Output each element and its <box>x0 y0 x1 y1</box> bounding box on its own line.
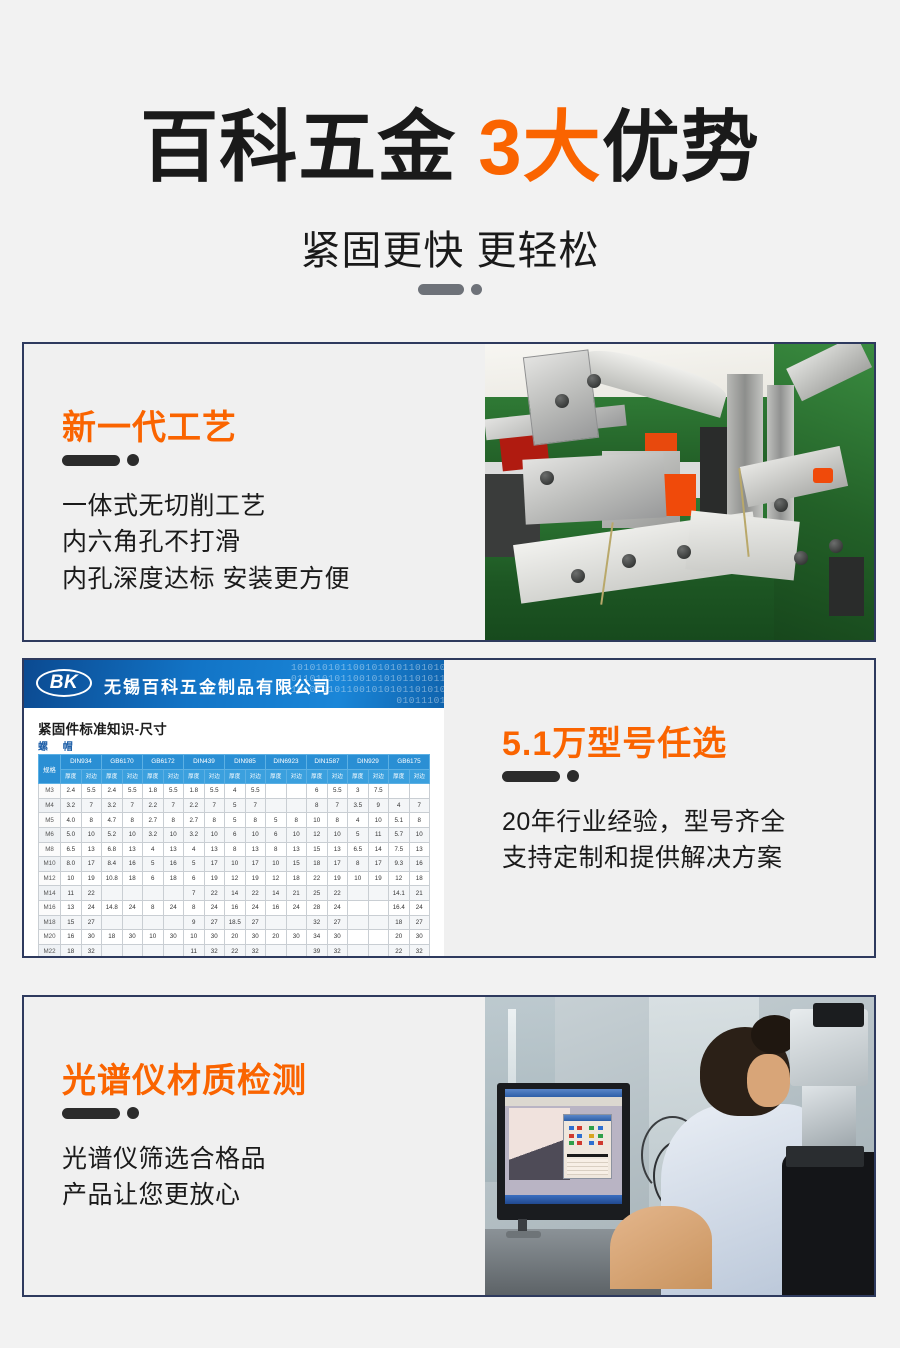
spec-cell: 2.2 <box>184 798 205 813</box>
spec-cell: 3.2 <box>184 827 205 842</box>
spec-cell: 6.8 <box>102 842 123 857</box>
spec-cell: 13 <box>81 842 102 857</box>
spec-cell: 24 <box>122 900 143 915</box>
spec-standard: DIN985 <box>225 755 266 770</box>
spec-cell: 5.5 <box>122 784 143 799</box>
spec-cell <box>286 784 307 799</box>
spec-cell <box>348 944 369 956</box>
spec-cell: 17 <box>368 857 389 872</box>
spec-subheader: 厚度 <box>266 769 287 784</box>
spectrometer-lab-photo <box>485 997 876 1295</box>
spec-cell: 4 <box>389 798 410 813</box>
spec-cell: 8.0 <box>61 857 82 872</box>
spec-subheader: 对边 <box>409 769 430 784</box>
spec-cell: 7 <box>245 798 266 813</box>
feature-card-1: 新一代工艺 一体式无切削工艺 内六角孔不打滑 内孔深度达标 安装更方便 <box>22 342 876 642</box>
spec-cell <box>143 944 164 956</box>
spec-cell <box>102 886 123 901</box>
spec-cell: 19 <box>368 871 389 886</box>
monitor-screen <box>505 1089 622 1204</box>
spec-subheader: 厚度 <box>61 769 82 784</box>
spec-cell: 24 <box>204 900 225 915</box>
spec-standard: DIN439 <box>184 755 225 770</box>
cold-forming-machine-photo <box>485 344 876 640</box>
feature-card-3-text: 光谱仪材质检测 光谱仪筛选合格品 产品让您更放心 <box>62 997 482 1295</box>
spec-table-row: M2218321132223239322232 <box>39 944 430 956</box>
spec-subheader: 对边 <box>245 769 266 784</box>
title-part-accent: 3大 <box>478 103 601 191</box>
spec-cell: 10 <box>307 813 328 828</box>
feature-card-1-text: 新一代工艺 一体式无切削工艺 内六角孔不打滑 内孔深度达标 安装更方便 <box>62 344 482 640</box>
spec-cell: 17 <box>81 857 102 872</box>
spec-cell: 4 <box>348 813 369 828</box>
spec-row-size: M16 <box>39 900 61 915</box>
spec-cell: 13 <box>245 842 266 857</box>
bk-logo: BK <box>36 669 92 697</box>
spec-standard: GB6175 <box>389 755 430 770</box>
spec-cell: 10 <box>122 827 143 842</box>
spec-cell: 30 <box>204 930 225 945</box>
spec-cell: 5.0 <box>61 827 82 842</box>
spec-cell <box>348 930 369 945</box>
spec-cell: 27 <box>327 915 348 930</box>
monitor <box>497 1083 630 1220</box>
spec-table-row: M65.0105.2103.2103.21061061012105115.710 <box>39 827 430 842</box>
divider-bar <box>502 771 560 782</box>
spec-table-row: M32.45.52.45.51.85.51.85.545.565.537.5 <box>39 784 430 799</box>
spec-cell: 10 <box>348 871 369 886</box>
spec-subheader: 对边 <box>286 769 307 784</box>
spec-row-size: M8 <box>39 842 61 857</box>
spec-cell: 16 <box>61 930 82 945</box>
feature-card-3-body: 光谱仪筛选合格品 产品让您更放心 <box>62 1141 266 1214</box>
spec-cell: 28 <box>307 900 328 915</box>
spec-cell: 32 <box>327 944 348 956</box>
divider-dot <box>127 1107 139 1119</box>
spec-cell: 12 <box>266 871 287 886</box>
spec-cell: 24 <box>327 900 348 915</box>
spec-cell <box>266 944 287 956</box>
spec-subheader: 厚度 <box>102 769 123 784</box>
spec-cell: 10 <box>143 930 164 945</box>
spec-cell: 3 <box>348 784 369 799</box>
spec-cell: 10 <box>184 930 205 945</box>
spec-cell: 30 <box>245 930 266 945</box>
spec-cell: 30 <box>122 930 143 945</box>
spec-cell: 3.2 <box>61 798 82 813</box>
spec-cell: 10 <box>204 827 225 842</box>
spec-cell: 22 <box>225 944 246 956</box>
spec-cell <box>368 900 389 915</box>
spec-table-head: 规格 DIN934 GB6170 GB6172 DIN439 DIN985 DI… <box>39 755 430 784</box>
spec-table-row: M54.084.782.782.7858581084105.18 <box>39 813 430 828</box>
spec-cell: 22 <box>389 944 410 956</box>
spec-subheader: 对边 <box>163 769 184 784</box>
spec-cell: 30 <box>409 930 430 945</box>
spec-cell <box>143 886 164 901</box>
spec-cell <box>266 915 287 930</box>
spec-cell: 7 <box>204 798 225 813</box>
spec-cell: 6 <box>225 827 246 842</box>
spec-subheader: 对边 <box>327 769 348 784</box>
spec-cell: 1.8 <box>184 784 205 799</box>
spec-cell: 7 <box>122 798 143 813</box>
spec-cell: 16 <box>163 857 184 872</box>
spec-cell <box>368 886 389 901</box>
spec-cell: 18 <box>409 871 430 886</box>
spec-cell: 5.5 <box>327 784 348 799</box>
spec-cell: 8 <box>204 813 225 828</box>
feature-card-2: 1010101011001010101101010 01101010110010… <box>22 658 876 958</box>
spec-cell: 7 <box>81 798 102 813</box>
spec-cell <box>102 915 123 930</box>
spec-cell: 18 <box>102 930 123 945</box>
spec-cell <box>122 915 143 930</box>
spec-cell: 8 <box>143 900 164 915</box>
spec-cell: 4.7 <box>102 813 123 828</box>
spec-cell: 27 <box>204 915 225 930</box>
spec-cell: 8 <box>81 813 102 828</box>
feature-card-3-divider <box>62 1107 139 1119</box>
spec-cell: 7 <box>184 886 205 901</box>
spec-subheader: 厚度 <box>389 769 410 784</box>
spec-cell: 18.5 <box>225 915 246 930</box>
spec-cell: 2.4 <box>102 784 123 799</box>
spec-cell: 6.5 <box>348 842 369 857</box>
spec-cell: 22 <box>307 871 328 886</box>
spec-cell <box>266 798 287 813</box>
spec-cell <box>266 784 287 799</box>
spec-cell: 6 <box>307 784 328 799</box>
spec-subheader: 厚度 <box>348 769 369 784</box>
spec-cell: 5 <box>184 857 205 872</box>
spec-cell: 10 <box>163 827 184 842</box>
spec-cell: 30 <box>327 930 348 945</box>
spec-cell: 13 <box>61 900 82 915</box>
spec-cell: 32 <box>245 944 266 956</box>
spec-cell: 18 <box>307 857 328 872</box>
spec-cell: 14.8 <box>102 900 123 915</box>
title-part-brand: 百科五金 <box>140 103 456 191</box>
feature-card-3: 光谱仪材质检测 光谱仪筛选合格品 产品让您更放心 <box>22 995 876 1297</box>
feature-card-2-divider <box>502 770 579 782</box>
spec-subheader: 厚度 <box>143 769 164 784</box>
page-header: 百科五金3大优势 紧固更快 更轻松 <box>0 0 900 330</box>
spec-cell: 6 <box>266 827 287 842</box>
spec-cell: 1.8 <box>143 784 164 799</box>
spec-cell: 8 <box>122 813 143 828</box>
spec-cell: 4 <box>184 842 205 857</box>
spec-subheader: 厚度 <box>225 769 246 784</box>
promo-page: 百科五金3大优势 紧固更快 更轻松 新一代工艺 一体式无切削工艺 内六角孔不打滑… <box>0 0 900 1348</box>
spec-cell <box>348 915 369 930</box>
spec-cell: 8 <box>409 813 430 828</box>
spec-cell: 2.7 <box>184 813 205 828</box>
page-title: 百科五金3大优势 <box>0 108 900 186</box>
spec-cell: 19 <box>245 871 266 886</box>
spec-cell: 18 <box>389 915 410 930</box>
spec-cell: 34 <box>307 930 328 945</box>
spec-subheader: 厚度 <box>307 769 328 784</box>
spec-cell: 7 <box>409 798 430 813</box>
spec-subheader: 对边 <box>122 769 143 784</box>
spec-cell: 7.5 <box>389 842 410 857</box>
spec-cell: 4 <box>225 784 246 799</box>
spec-cell: 18 <box>122 871 143 886</box>
spec-cell: 15 <box>307 842 328 857</box>
spec-cell: 3.5 <box>348 798 369 813</box>
spec-standard: GB6172 <box>143 755 184 770</box>
spec-row-size: M5 <box>39 813 61 828</box>
spec-cell: 10 <box>61 871 82 886</box>
spec-cell: 22 <box>204 886 225 901</box>
spec-row-size: M6 <box>39 827 61 842</box>
spec-cell: 13 <box>204 842 225 857</box>
spec-cell: 16 <box>225 900 246 915</box>
spec-row-size: M4 <box>39 798 61 813</box>
spec-cell: 27 <box>409 915 430 930</box>
spec-cell <box>389 784 410 799</box>
feature-card-1-divider <box>62 454 139 466</box>
spec-cell: 20 <box>389 930 410 945</box>
spec-cell: 17 <box>327 857 348 872</box>
spec-cell: 12 <box>225 871 246 886</box>
spec-cell: 5 <box>266 813 287 828</box>
spec-table-row: M2016301830103010302030203034302030 <box>39 930 430 945</box>
divider-dot <box>127 454 139 466</box>
feature-card-1-title: 新一代工艺 <box>62 400 237 449</box>
spec-cell: 17 <box>204 857 225 872</box>
spec-subheader: 对边 <box>368 769 389 784</box>
spec-row-size: M22 <box>39 944 61 956</box>
divider-dot <box>567 770 579 782</box>
spec-standard: DIN929 <box>348 755 389 770</box>
spec-standard: DIN934 <box>61 755 102 770</box>
spec-cell: 14 <box>225 886 246 901</box>
spec-cell: 18 <box>163 871 184 886</box>
spec-sheet-subtitle: 螺 帽 <box>38 738 79 753</box>
spec-cell: 8 <box>245 813 266 828</box>
spec-cell: 5.5 <box>81 784 102 799</box>
spec-cell: 20 <box>266 930 287 945</box>
spec-cell: 10 <box>81 827 102 842</box>
spec-cell: 13 <box>122 842 143 857</box>
spec-cell: 5.5 <box>163 784 184 799</box>
spec-cell: 5.2 <box>102 827 123 842</box>
spec-cell: 8 <box>348 857 369 872</box>
spec-cell: 22 <box>245 886 266 901</box>
spec-cell: 24 <box>409 900 430 915</box>
spec-cell: 6 <box>143 871 164 886</box>
spec-cell: 14.1 <box>389 886 410 901</box>
feature-card-2-text: 5.1万型号任选 20年行业经验，型号齐全 支持定制和提供解决方案 <box>502 660 876 956</box>
spec-cell: 16 <box>266 900 287 915</box>
spec-cell: 15 <box>286 857 307 872</box>
spec-row-size: M18 <box>39 915 61 930</box>
spec-cell: 25 <box>307 886 328 901</box>
spec-cell <box>348 886 369 901</box>
spec-table-row: M12101910.81861861912191218221910191218 <box>39 871 430 886</box>
spec-cell: 9 <box>368 798 389 813</box>
spec-row-size: M20 <box>39 930 61 945</box>
spec-table-row: M86.5136.81341341381381315136.5147.513 <box>39 842 430 857</box>
spec-cell <box>368 944 389 956</box>
spec-cell: 10 <box>409 827 430 842</box>
spec-cell <box>348 900 369 915</box>
spec-cell <box>368 930 389 945</box>
spec-cell: 8 <box>286 813 307 828</box>
spec-table-row: M43.273.272.272.2757873.5947 <box>39 798 430 813</box>
spec-subheader: 对边 <box>204 769 225 784</box>
spec-cell: 2.4 <box>61 784 82 799</box>
spec-cell: 12 <box>307 827 328 842</box>
spec-cell: 8 <box>225 842 246 857</box>
spec-cell: 7 <box>163 798 184 813</box>
spec-cell: 18 <box>61 944 82 956</box>
spec-cell: 8 <box>163 813 184 828</box>
spec-cell: 2.7 <box>143 813 164 828</box>
spec-row-size: M14 <box>39 886 61 901</box>
spec-cell: 32 <box>81 944 102 956</box>
spec-row-size: M12 <box>39 871 61 886</box>
spec-cell: 8 <box>266 842 287 857</box>
spec-cell: 5.1 <box>389 813 410 828</box>
spec-cell <box>122 886 143 901</box>
spec-cell: 16.4 <box>389 900 410 915</box>
spec-cell: 10 <box>225 857 246 872</box>
page-subtitle: 紧固更快 更轻松 <box>0 218 900 276</box>
spec-cell: 5 <box>348 827 369 842</box>
spec-cell: 7.5 <box>368 784 389 799</box>
spec-cell: 27 <box>81 915 102 930</box>
spec-col-size: 规格 <box>39 755 61 784</box>
spec-cell <box>122 944 143 956</box>
spec-cell: 8 <box>307 798 328 813</box>
spec-cell: 13 <box>163 842 184 857</box>
fastener-spec-sheet-photo: 1010101011001010101101010 01101010110010… <box>24 660 444 956</box>
title-part-suffix: 优势 <box>602 103 760 191</box>
spec-cell: 5 <box>225 798 246 813</box>
spec-cell: 21 <box>409 886 430 901</box>
divider-dot <box>471 284 482 295</box>
spec-standard: DIN6923 <box>266 755 307 770</box>
spec-cell: 24 <box>81 900 102 915</box>
spec-cell <box>286 798 307 813</box>
spec-table-row: M108.0178.4165165171017101518178179.316 <box>39 857 430 872</box>
spec-cell: 5 <box>143 857 164 872</box>
feature-card-3-title: 光谱仪材质检测 <box>62 1053 307 1102</box>
spec-table-standard-row: 规格 DIN934 GB6170 GB6172 DIN439 DIN985 DI… <box>39 755 430 770</box>
spec-cell: 3.2 <box>102 798 123 813</box>
spec-cell: 9.3 <box>389 857 410 872</box>
divider-bar <box>62 455 120 466</box>
spec-cell: 2.2 <box>143 798 164 813</box>
spec-cell: 5.5 <box>204 784 225 799</box>
spec-cell: 19 <box>327 871 348 886</box>
spec-standard: GB6170 <box>102 755 143 770</box>
spec-cell <box>102 944 123 956</box>
spec-cell: 30 <box>81 930 102 945</box>
spec-cell: 19 <box>204 871 225 886</box>
spec-cell: 15 <box>61 915 82 930</box>
spec-sheet-banner: 1010101011001010101101010 01101010110010… <box>24 660 444 708</box>
spec-cell <box>286 915 307 930</box>
spec-cell: 27 <box>245 915 266 930</box>
spec-cell: 16 <box>409 857 430 872</box>
spec-cell: 24 <box>245 900 266 915</box>
spec-cell: 7 <box>327 798 348 813</box>
spec-table-row: M14112272214221421252214.121 <box>39 886 430 901</box>
spec-table-body: M32.45.52.45.51.85.51.85.545.565.537.5M4… <box>39 784 430 956</box>
spec-cell: 17 <box>245 857 266 872</box>
divider-bar <box>62 1108 120 1119</box>
spec-cell: 11 <box>368 827 389 842</box>
spec-subheader: 对边 <box>81 769 102 784</box>
spec-cell: 10 <box>266 857 287 872</box>
spec-cell <box>163 944 184 956</box>
spec-cell: 5.7 <box>389 827 410 842</box>
spec-standard: DIN1587 <box>307 755 348 770</box>
spec-cell: 10 <box>368 813 389 828</box>
spec-cell: 18 <box>286 871 307 886</box>
spec-cell: 4.0 <box>61 813 82 828</box>
company-name: 无锡百科五金制品有限公司 <box>104 673 332 698</box>
spec-cell: 4 <box>143 842 164 857</box>
spec-cell: 32 <box>204 944 225 956</box>
spec-cell: 21 <box>286 886 307 901</box>
spec-row-size: M3 <box>39 784 61 799</box>
spec-cell: 11 <box>184 944 205 956</box>
spec-cell: 24 <box>163 900 184 915</box>
spec-cell: 13 <box>409 842 430 857</box>
spec-cell: 32 <box>409 944 430 956</box>
spec-table-row: M16132414.82482482416241624282416.424 <box>39 900 430 915</box>
spec-table-subheader-row: 厚度对边厚度对边厚度对边厚度对边厚度对边厚度对边厚度对边厚度对边厚度对边 <box>39 769 430 784</box>
spec-cell: 5 <box>225 813 246 828</box>
spec-cell: 32 <box>307 915 328 930</box>
spec-cell: 8 <box>184 900 205 915</box>
spec-cell: 14 <box>266 886 287 901</box>
feature-card-1-body: 一体式无切削工艺 内六角孔不打滑 内孔深度达标 安装更方便 <box>62 488 350 597</box>
spec-cell: 12 <box>389 871 410 886</box>
fastener-spec-table: 规格 DIN934 GB6170 GB6172 DIN439 DIN985 DI… <box>38 754 430 956</box>
spec-cell: 30 <box>163 930 184 945</box>
spec-cell: 39 <box>307 944 328 956</box>
spec-cell: 6 <box>184 871 205 886</box>
spec-cell: 10 <box>327 827 348 842</box>
spec-cell <box>143 915 164 930</box>
feature-card-2-body: 20年行业经验，型号齐全 支持定制和提供解决方案 <box>502 804 786 877</box>
spec-cell <box>368 915 389 930</box>
spec-subheader: 厚度 <box>184 769 205 784</box>
spec-cell: 10 <box>286 827 307 842</box>
spec-cell: 8.4 <box>102 857 123 872</box>
office-chair <box>782 1152 876 1295</box>
spec-cell: 8 <box>327 813 348 828</box>
spec-cell: 22 <box>327 886 348 901</box>
spec-row-size: M10 <box>39 857 61 872</box>
spec-cell: 6.5 <box>61 842 82 857</box>
spec-cell <box>163 886 184 901</box>
spec-cell: 11 <box>61 886 82 901</box>
spec-cell: 16 <box>122 857 143 872</box>
spec-cell <box>286 944 307 956</box>
spec-cell: 9 <box>184 915 205 930</box>
spec-cell: 22 <box>81 886 102 901</box>
divider-bar <box>418 284 464 295</box>
spec-cell: 14 <box>368 842 389 857</box>
spec-cell: 5.5 <box>245 784 266 799</box>
